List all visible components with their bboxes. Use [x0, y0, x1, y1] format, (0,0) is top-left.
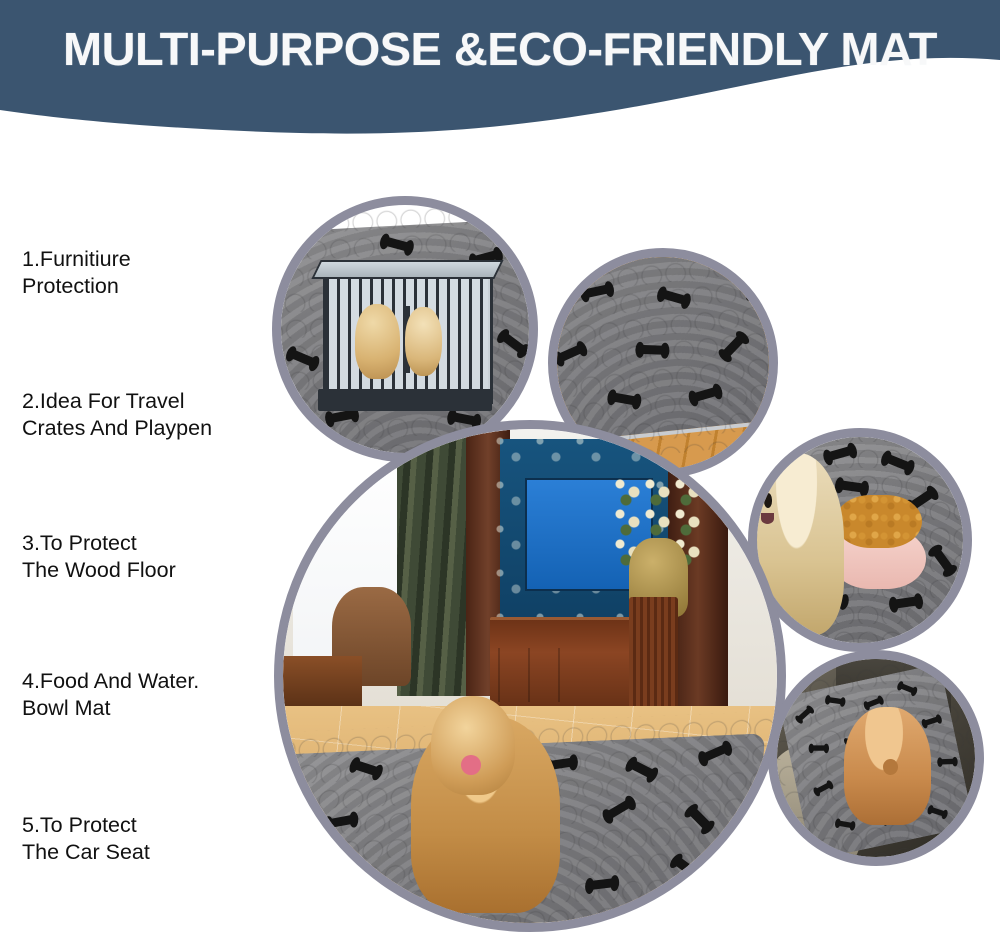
living-room-scene — [283, 429, 777, 923]
puppy — [844, 707, 931, 826]
header-banner: MULTI-PURPOSE &ECO-FRIENDLY MAT — [0, 0, 1000, 136]
crate-scene — [281, 205, 529, 453]
dog-in-crate — [355, 304, 400, 378]
crate-base-tray — [318, 389, 492, 411]
photo-circle-car-seat — [768, 650, 984, 866]
food-bowl-scene — [757, 437, 963, 643]
dog-tongue — [461, 755, 481, 775]
car-seat-scene — [777, 659, 975, 857]
bone-print — [283, 879, 300, 891]
bone-print — [827, 697, 843, 705]
golden-retriever-head — [431, 696, 515, 795]
photo-circle-food-bowl — [748, 428, 972, 652]
bone-print — [837, 820, 853, 828]
dog-kibble — [835, 495, 922, 549]
feature-item-2: 2.Idea For Travel Crates And Playpen — [22, 388, 212, 442]
mat-corner — [557, 257, 769, 444]
feature-item-5: 5.To Protect The Car Seat — [22, 812, 150, 866]
photo-circle-living-room — [274, 420, 786, 932]
dog-in-crate-second — [405, 307, 442, 376]
bone-print — [939, 759, 955, 765]
feature-item-1: 1.Furnitiure Protection — [22, 246, 131, 300]
bone-print — [811, 746, 827, 751]
puppy-muzzle — [883, 759, 899, 776]
crate-roof — [311, 260, 503, 279]
bone-print — [639, 345, 665, 355]
feature-item-3: 3.To Protect The Wood Floor — [22, 530, 176, 584]
coffee-table — [283, 656, 362, 705]
feature-item-4: 4.Food And Water. Bowl Mat — [22, 668, 199, 722]
page-title: MULTI-PURPOSE &ECO-FRIENDLY MAT — [0, 22, 1000, 76]
